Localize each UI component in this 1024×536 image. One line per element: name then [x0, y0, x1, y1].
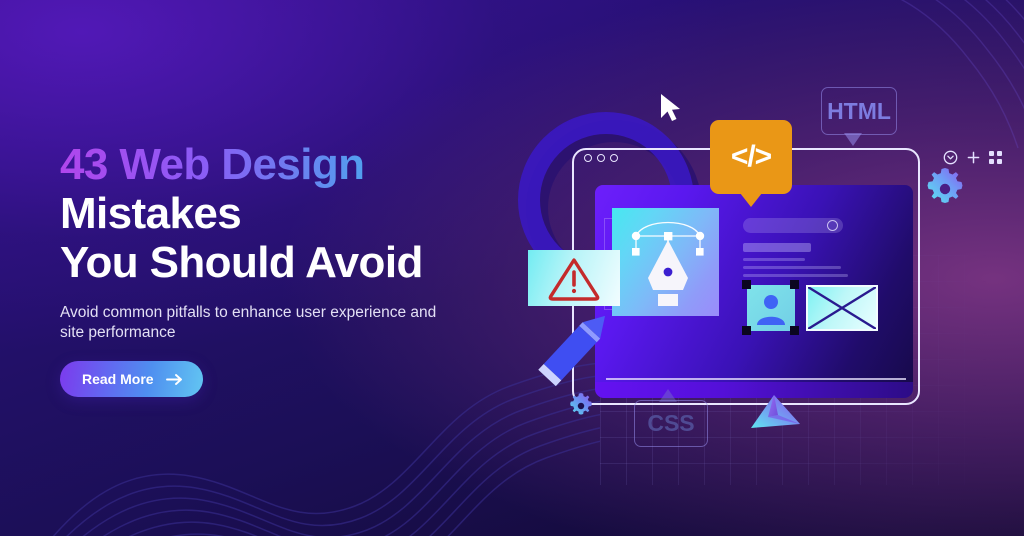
- window-dot: [610, 154, 618, 162]
- avatar: [747, 285, 795, 331]
- read-more-label: Read More: [82, 371, 154, 387]
- window-dot: [584, 154, 592, 162]
- selection-handle[interactable]: [742, 326, 751, 335]
- text-line: [743, 243, 811, 252]
- warning-triangle-icon: [547, 255, 601, 301]
- text-line: [743, 266, 841, 269]
- pen-tool-icon: [614, 204, 726, 320]
- pencil-icon: [532, 300, 618, 396]
- image-placeholder-icon: [806, 285, 878, 331]
- plus-icon[interactable]: [967, 151, 980, 169]
- screen-divider: [606, 378, 906, 380]
- cursor-arrow-icon: [658, 92, 684, 124]
- window-toolbar: [943, 150, 1002, 170]
- hero-subtitle: Avoid common pitfalls to enhance user ex…: [60, 303, 450, 343]
- read-more-button[interactable]: Read More: [60, 361, 203, 397]
- grid-apps-icon[interactable]: [989, 151, 1002, 169]
- hero-illustration: </> HTML CSS: [510, 60, 1024, 480]
- headline-line-3: You Should Avoid: [60, 238, 530, 287]
- arrow-3d-icon: [748, 392, 804, 440]
- search-icon: [827, 220, 838, 231]
- text-line: [743, 274, 848, 277]
- text-line: [743, 258, 805, 261]
- tag-html: HTML: [821, 87, 897, 135]
- selection-handle[interactable]: [742, 280, 751, 289]
- code-bubble: </>: [710, 120, 792, 194]
- selection-handle[interactable]: [790, 280, 799, 289]
- selection-handle[interactable]: [790, 326, 799, 335]
- window-dot: [597, 154, 605, 162]
- headline-line-1: 43 Web Design: [60, 140, 530, 189]
- hero-banner: 43 Web Design Mistakes You Should Avoid …: [0, 0, 1024, 536]
- chevron-down-circle-icon[interactable]: [943, 150, 958, 170]
- gear-small-icon: [568, 393, 594, 419]
- warning-card: [528, 250, 620, 306]
- tag-css: CSS: [634, 400, 708, 447]
- page-title: 43 Web Design Mistakes You Should Avoid: [60, 140, 530, 287]
- arrow-right-icon: [166, 373, 183, 386]
- headline-line-2: Mistakes: [60, 189, 530, 238]
- hero-copy: 43 Web Design Mistakes You Should Avoid …: [60, 140, 530, 397]
- gear-icon: [924, 168, 966, 210]
- window-dots: [584, 154, 618, 162]
